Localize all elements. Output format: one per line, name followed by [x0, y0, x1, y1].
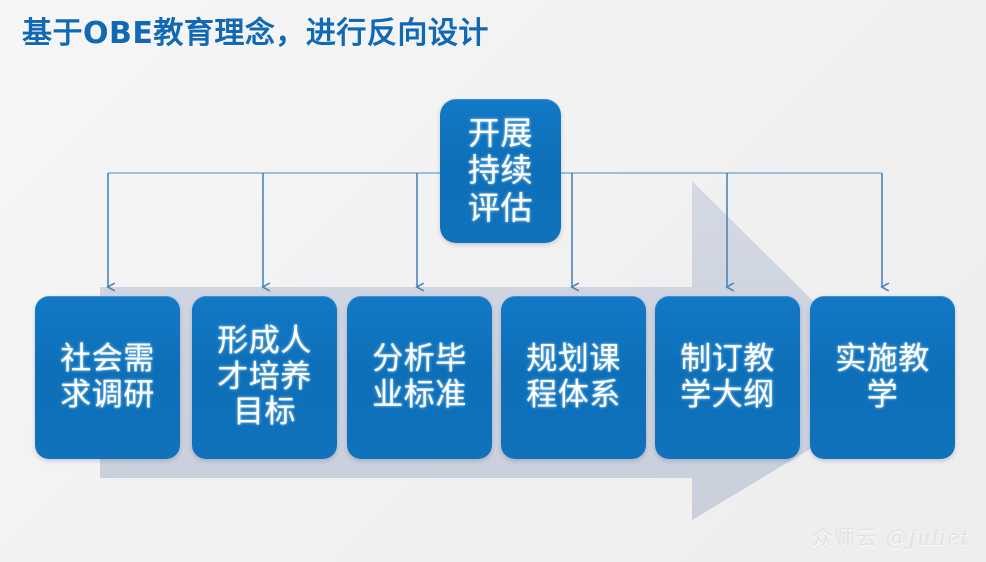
node-social-demand-research[interactable]: 社会需 求调研	[35, 296, 180, 459]
node-curriculum-system-planning-label: 规划课 程体系	[522, 342, 625, 414]
node-talent-training-goal[interactable]: 形成人 才培养 目标	[192, 296, 337, 459]
node-social-demand-research-label: 社会需 求调研	[56, 342, 159, 414]
node-talent-training-goal-label: 形成人 才培养 目标	[213, 324, 316, 432]
node-syllabus-formulation[interactable]: 制订教 学大纲	[655, 296, 800, 459]
watermark: 众师云 @Juliet	[812, 522, 970, 552]
node-continuous-assessment-label: 开展 持续 评估	[464, 115, 537, 226]
node-syllabus-formulation-label: 制订教 学大纲	[676, 342, 779, 414]
node-teaching-implementation-label: 实施教 学	[831, 342, 934, 414]
page-title: 基于OBE教育理念，进行反向设计	[22, 8, 489, 52]
slide-canvas: 基于OBE教育理念，进行反向设计 开展 持续 评估 社会需 求调研 形成人 才培…	[0, 0, 986, 562]
node-graduation-standard-analysis[interactable]: 分析毕 业标准	[347, 296, 492, 459]
node-teaching-implementation[interactable]: 实施教 学	[810, 296, 955, 459]
watermark-handle: @Juliet	[886, 526, 970, 550]
connector-lines	[0, 0, 986, 562]
node-curriculum-system-planning[interactable]: 规划课 程体系	[501, 296, 646, 459]
node-continuous-assessment[interactable]: 开展 持续 评估	[440, 99, 561, 243]
node-graduation-standard-analysis-label: 分析毕 业标准	[368, 342, 471, 414]
watermark-brand: 众师云	[812, 526, 878, 550]
